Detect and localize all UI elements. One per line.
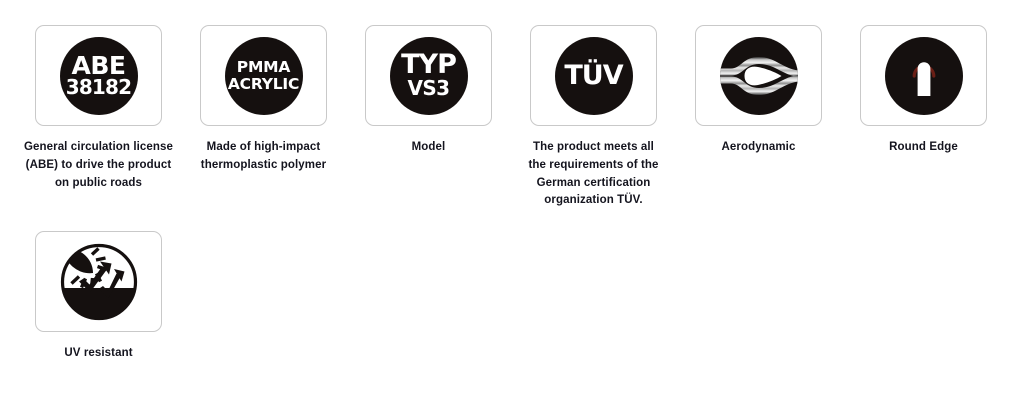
badge-card-abe[interactable]: ABE 38182	[35, 25, 162, 126]
tuv-certification-icon: TÜV	[555, 37, 633, 115]
model-label-top: TYP	[401, 52, 456, 78]
badge-card-aerodynamic[interactable]	[695, 25, 822, 126]
badge-card-model[interactable]: TYP VS3	[365, 25, 492, 126]
pmma-acrylic-material-icon: PMMA ACRYLIC	[225, 37, 303, 115]
feature-caption-uv-resistant: UV resistant	[29, 345, 169, 363]
feature-item-aerodynamic[interactable]: Aerodynamic	[695, 25, 822, 157]
abe-certification-icon: ABE 38182	[60, 37, 138, 115]
badge-card-uv-resistant[interactable]	[35, 231, 162, 332]
feature-item-pmma[interactable]: PMMA ACRYLIC Made of high-impact thermop…	[200, 25, 327, 175]
feature-caption-abe: General circulation license (ABE) to dri…	[24, 139, 174, 192]
model-label-bottom: VS3	[408, 78, 450, 99]
uv-resistant-sun-icon	[59, 242, 139, 322]
feature-caption-model: Model	[359, 139, 499, 157]
aerodynamic-airflow-icon	[719, 36, 799, 116]
feature-item-round-edge[interactable]: Round Edge	[860, 25, 987, 157]
feature-item-abe[interactable]: ABE 38182 General circulation license (A…	[35, 25, 162, 192]
badge-card-pmma[interactable]: PMMA ACRYLIC	[200, 25, 327, 126]
abe-label-top: ABE	[72, 54, 126, 77]
feature-item-model[interactable]: TYP VS3 Model	[365, 25, 492, 157]
badge-card-tuv[interactable]: TÜV	[530, 25, 657, 126]
feature-item-tuv[interactable]: TÜV The product meets all the requiremen…	[530, 25, 657, 210]
feature-caption-round-edge: Round Edge	[854, 139, 994, 157]
badge-card-round-edge[interactable]	[860, 25, 987, 126]
round-edge-profile-icon	[884, 36, 964, 116]
abe-label-bottom: 38182	[66, 77, 132, 97]
pmma-label-top: PMMA	[237, 59, 290, 76]
tuv-label: TÜV	[564, 62, 622, 89]
feature-caption-pmma: Made of high-impact thermoplastic polyme…	[188, 139, 340, 175]
model-type-icon: TYP VS3	[390, 37, 468, 115]
pmma-label-bottom: ACRYLIC	[228, 76, 299, 93]
feature-badge-grid: ABE 38182 General circulation license (A…	[35, 25, 1000, 363]
feature-caption-aerodynamic: Aerodynamic	[689, 139, 829, 157]
feature-caption-tuv: The product meets all the requirements o…	[524, 139, 664, 210]
feature-item-uv-resistant[interactable]: UV resistant	[35, 231, 162, 363]
